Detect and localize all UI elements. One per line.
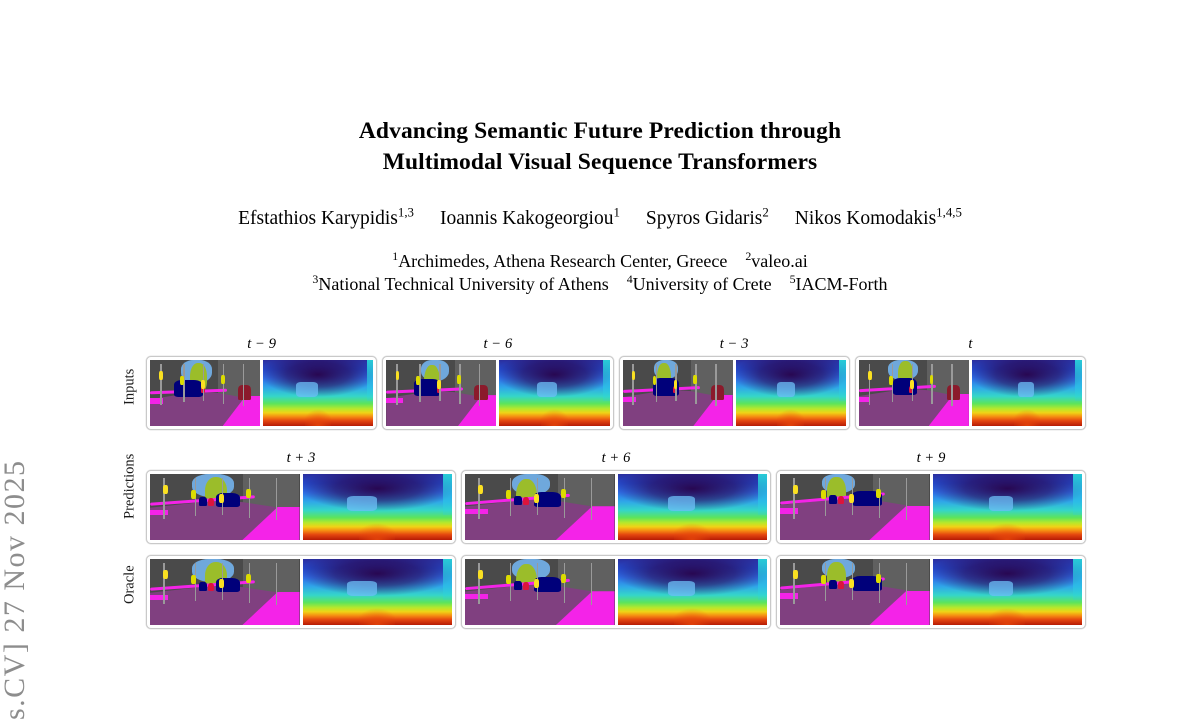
far-vehicle-region (474, 385, 487, 400)
sidewalk-left-region (150, 595, 168, 600)
depth-map-image (303, 474, 453, 540)
car-region-2 (514, 496, 521, 505)
pole-region (479, 364, 481, 406)
right-edge-depth (443, 474, 452, 515)
near-ground-depth (1014, 409, 1040, 426)
pole-region (243, 364, 245, 406)
timestep-operator: + (606, 450, 623, 466)
pole-region (249, 478, 251, 518)
affiliation-name: University of Crete (633, 274, 772, 294)
affiliation-line-1: 1Archimedes, Athena Research Center, Gre… (0, 250, 1200, 273)
near-ground-depth (305, 409, 331, 426)
depth-map-image (499, 360, 609, 426)
traffic-light-region (437, 380, 441, 389)
author-name: Ioannis Kakogeorgiou (440, 208, 613, 229)
semantic-segmentation-image (386, 360, 496, 426)
timestep-offset: 9 (269, 336, 276, 352)
object-depth-blob (1018, 382, 1033, 397)
traffic-light-region (793, 485, 798, 494)
traffic-light-region (821, 575, 826, 584)
timestep-variable: t (484, 336, 488, 352)
car-region (174, 380, 203, 397)
pole-region (591, 563, 593, 605)
timestep-variable: t (968, 336, 972, 352)
affiliation-name: IACM-Forth (796, 274, 888, 294)
affiliation-item: 3National Technical University of Athens (312, 274, 608, 294)
traffic-light-region (534, 579, 539, 588)
sidewalk-left-region (150, 510, 168, 515)
pole-region (906, 478, 908, 520)
figure-panel-group (382, 356, 613, 430)
traffic-light-region (534, 494, 539, 503)
traffic-light-region (849, 579, 854, 588)
object-depth-blob (777, 382, 795, 397)
timestep-variable: t (247, 336, 251, 352)
traffic-light-region (506, 490, 511, 499)
pole-region (459, 364, 461, 404)
depth-map-image (972, 360, 1082, 426)
traffic-light-region (201, 380, 205, 389)
affiliation-item: 5IACM-Forth (790, 274, 888, 294)
timestep-label: t (855, 336, 1086, 353)
page-title: Advancing Semantic Future Prediction thr… (0, 116, 1200, 178)
traffic-light-region (632, 371, 636, 380)
author-name: Nikos Komodakis (795, 208, 936, 229)
traffic-light-region (876, 489, 881, 498)
author-affiliation-mark: 2 (762, 206, 768, 220)
object-depth-blob (296, 382, 318, 397)
traffic-light-region (561, 489, 566, 498)
timestep-variable: t (720, 336, 724, 352)
pole-region (249, 563, 251, 603)
object-depth-blob (989, 581, 1013, 596)
semantic-segmentation-image (859, 360, 969, 426)
affiliation-name: valeo.ai (751, 251, 807, 271)
affiliation-block: 1Archimedes, Athena Research Center, Gre… (0, 250, 1200, 296)
traffic-light-region (889, 376, 893, 385)
figure-panel-group (619, 356, 850, 430)
semantic-segmentation-image (150, 474, 300, 540)
traffic-light-region (221, 375, 225, 384)
figure-panel-group (461, 555, 771, 629)
title-line-1: Advancing Semantic Future Prediction thr… (0, 116, 1200, 147)
right-edge-depth (367, 360, 374, 401)
pole-region (695, 364, 697, 404)
timestep-offset: 6 (505, 336, 512, 352)
figure-panel-group (776, 555, 1086, 629)
figure-panel-group (461, 470, 771, 544)
traffic-light-region (191, 490, 196, 499)
affiliation-item: 4University of Crete (627, 274, 772, 294)
traffic-light-region (821, 490, 826, 499)
pole-region (715, 364, 717, 406)
timestep-offset: 9 (938, 450, 945, 466)
object-depth-blob (989, 496, 1013, 511)
depth-map-image (618, 474, 768, 540)
depth-map-image (263, 360, 373, 426)
figure-panel-group (855, 356, 1086, 430)
author-list: Efstathios Karypidis1,3Ioannis Kakogeorg… (0, 206, 1200, 232)
person-region (208, 498, 214, 507)
traffic-light-region (163, 485, 168, 494)
sidewalk-left-region (465, 509, 488, 514)
timestep-operator: − (251, 336, 268, 352)
right-edge-depth (758, 559, 767, 600)
near-ground-depth (674, 608, 710, 625)
pole-region (906, 563, 908, 605)
timestep-variable: t (287, 450, 291, 466)
row-label-oracle: Oracle (122, 580, 139, 604)
sidewalk-left-region (780, 593, 798, 598)
pole-region (931, 364, 933, 404)
author-2: Ioannis Kakogeorgiou1 (440, 208, 620, 229)
right-edge-depth (758, 474, 767, 515)
far-vehicle-region (947, 385, 960, 400)
author-affiliation-mark: 1,3 (398, 206, 414, 220)
figure-panel-group (146, 356, 377, 430)
timestep-label: t − 3 (619, 336, 850, 353)
timestep-operator: − (488, 336, 505, 352)
timestep-label: t − 6 (382, 336, 613, 353)
semantic-segmentation-image (465, 474, 615, 540)
pole-region (564, 563, 566, 603)
car-region-2 (829, 580, 836, 589)
traffic-light-region (246, 489, 251, 498)
pole-region (951, 364, 953, 406)
depth-map-image (933, 474, 1083, 540)
row-label-inputs: Inputs (122, 381, 139, 405)
title-line-2: Multimodal Visual Sequence Transformers (0, 147, 1200, 178)
affiliation-line-2: 3National Technical University of Athens… (0, 273, 1200, 296)
depth-map-image (618, 559, 768, 625)
car-region-2 (514, 581, 521, 590)
right-edge-depth (1073, 474, 1082, 515)
pole-region (564, 478, 566, 518)
far-vehicle-region (711, 385, 724, 400)
right-edge-depth (1073, 559, 1082, 600)
timestep-offset: 3 (741, 336, 748, 352)
affiliation-name: Archimedes, Athena Research Center, Gree… (398, 251, 727, 271)
traffic-light-region (876, 574, 881, 583)
timestep-tick-row-1: t − 9t − 6t − 3t (146, 336, 1086, 356)
traffic-light-region (246, 574, 251, 583)
sidewalk-left-region (780, 508, 798, 513)
near-ground-depth (541, 409, 567, 426)
teaser-figure: Inputst − 9t − 6t − 3tPredictionst + 3t … (118, 330, 1086, 640)
sidewalk-left-region (465, 594, 488, 599)
traffic-light-region (396, 371, 400, 380)
timestep-variable: t (917, 450, 921, 466)
semantic-segmentation-image (150, 559, 300, 625)
semantic-segmentation-image (465, 559, 615, 625)
author-affiliation-mark: 1 (613, 206, 619, 220)
arxiv-stamp: s.CV] 27 Nov 2025 (0, 300, 32, 726)
author-name: Spyros Gidaris (646, 208, 762, 229)
traffic-light-region (561, 574, 566, 583)
car-region-2 (829, 495, 836, 504)
sidewalk-left-region (386, 398, 403, 403)
traffic-light-region (910, 380, 914, 389)
traffic-light-region (506, 575, 511, 584)
traffic-light-region (191, 575, 196, 584)
right-edge-depth (443, 559, 452, 600)
near-ground-depth (989, 523, 1025, 540)
timestep-operator: + (291, 450, 308, 466)
traffic-light-region (478, 570, 483, 579)
semantic-segmentation-image (780, 559, 930, 625)
object-depth-blob (668, 581, 695, 596)
near-ground-depth (674, 523, 710, 540)
right-edge-depth (603, 360, 610, 401)
timestep-label: t + 9 (776, 450, 1086, 467)
timestep-operator: + (921, 450, 938, 466)
timestep-offset: 3 (308, 450, 315, 466)
timestep-label: t + 6 (461, 450, 771, 467)
traffic-light-region (163, 570, 168, 579)
semantic-segmentation-image (623, 360, 733, 426)
timestep-variable: t (602, 450, 606, 466)
car-region-2 (199, 497, 206, 506)
affiliation-name: National Technical University of Athens (318, 274, 608, 294)
semantic-segmentation-image (780, 474, 930, 540)
far-vehicle-region (238, 385, 251, 400)
pole-region (276, 563, 278, 605)
depth-map-image (736, 360, 846, 426)
author-affiliation-mark: 1,4,5 (936, 206, 962, 220)
author-3: Spyros Gidaris2 (646, 208, 769, 229)
object-depth-blob (668, 496, 695, 511)
near-ground-depth (989, 608, 1025, 625)
figure-panel-group (776, 470, 1086, 544)
traffic-light-region (868, 371, 872, 380)
pole-region (591, 478, 593, 520)
person-region (208, 583, 214, 592)
author-1: Efstathios Karypidis1,3 (238, 208, 414, 229)
traffic-light-region (219, 579, 224, 588)
panel-strip-predictions (146, 470, 1086, 544)
traffic-light-region (478, 485, 483, 494)
affiliation-item: 2valeo.ai (745, 251, 807, 271)
timestep-offset: 6 (623, 450, 630, 466)
pole-region (879, 563, 881, 603)
traffic-light-region (159, 371, 163, 380)
pole-region (223, 364, 225, 404)
near-ground-depth (359, 523, 395, 540)
car-region-2 (199, 582, 206, 591)
object-depth-blob (347, 581, 377, 596)
panel-strip-oracle (146, 555, 1086, 629)
timestep-operator: − (724, 336, 741, 352)
traffic-light-region (457, 375, 461, 384)
timestep-label: t + 3 (146, 450, 456, 467)
right-edge-depth (1075, 360, 1082, 401)
timestep-tick-row-2: t + 3t + 6t + 9 (146, 450, 1086, 470)
panel-strip-inputs (146, 356, 1086, 430)
person-region (838, 496, 844, 505)
author-name: Efstathios Karypidis (238, 208, 398, 229)
traffic-light-region (219, 494, 224, 503)
figure-panel-group (146, 555, 456, 629)
near-ground-depth (777, 409, 803, 426)
person-region (523, 582, 529, 591)
row-label-predictions: Predictions (122, 495, 139, 519)
figure-panel-group (146, 470, 456, 544)
traffic-light-region (930, 375, 934, 384)
traffic-light-region (693, 375, 697, 384)
near-ground-depth (359, 608, 395, 625)
depth-map-image (933, 559, 1083, 625)
person-region (838, 581, 844, 590)
object-depth-blob (347, 496, 377, 511)
depth-map-image (303, 559, 453, 625)
traffic-light-region (416, 376, 420, 385)
person-region (523, 497, 529, 506)
author-4: Nikos Komodakis1,4,5 (795, 208, 962, 229)
object-depth-blob (537, 382, 557, 397)
right-edge-depth (839, 360, 846, 401)
pole-region (276, 478, 278, 520)
traffic-light-region (180, 376, 184, 385)
timestep-label: t − 9 (146, 336, 377, 353)
pole-region (879, 478, 881, 518)
semantic-segmentation-image (150, 360, 260, 426)
affiliation-item: 1Archimedes, Athena Research Center, Gre… (392, 251, 727, 271)
traffic-light-region (793, 570, 798, 579)
traffic-light-region (674, 380, 678, 389)
traffic-light-region (849, 494, 854, 503)
